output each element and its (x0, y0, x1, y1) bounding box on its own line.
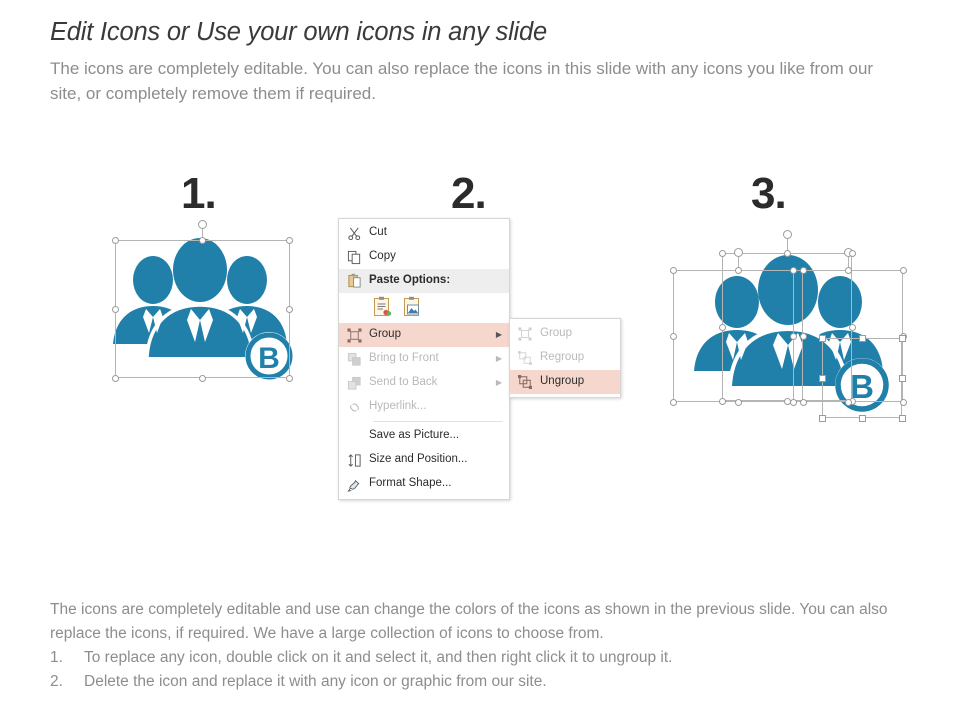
group-submenu[interactable]: Group Regroup Ungroup (509, 318, 621, 398)
step-number-3: 3. (751, 172, 786, 216)
page-title: Edit Icons or Use your own icons in any … (50, 18, 547, 47)
selection-handle-nw[interactable] (670, 267, 677, 274)
footer-paragraph: The icons are completely editable and us… (50, 598, 930, 646)
selection-handle-sw[interactable] (670, 399, 677, 406)
selection-handle-w[interactable] (819, 375, 826, 382)
selection-handle-n[interactable] (859, 335, 866, 342)
selection-handle-se[interactable] (286, 375, 293, 382)
submenu-item-label: Group (540, 328, 616, 340)
context-menu[interactable]: Cut Copy Paste Options: (338, 218, 510, 500)
menu-item-label: Group (369, 329, 493, 341)
menu-item-paste-options: Paste Options: (339, 269, 509, 293)
selection-handle-ne[interactable] (899, 335, 906, 342)
selection-handle-nw[interactable] (790, 267, 797, 274)
selection-handle-ne[interactable] (286, 237, 293, 244)
regroup-icon (510, 346, 540, 370)
selection-handle-e[interactable] (899, 375, 906, 382)
menu-separator (373, 421, 503, 422)
submenu-item-label: Ungroup (540, 376, 616, 388)
menu-item-label: Save as Picture... (369, 430, 505, 442)
selection-handle-w[interactable] (112, 306, 119, 313)
rotation-handle-center[interactable] (783, 230, 792, 239)
selection-handle-sw[interactable] (819, 415, 826, 422)
selection-handle-w[interactable] (670, 333, 677, 340)
chevron-right-icon: ▶ (493, 331, 505, 339)
step-3-icon-stage: B (665, 228, 900, 423)
no-icon (339, 424, 369, 448)
selection-handle-n[interactable] (784, 250, 791, 257)
menu-item-save-as-picture[interactable]: Save as Picture... (339, 424, 509, 448)
selection-handle-nw[interactable] (719, 250, 726, 257)
selection-handle-s[interactable] (735, 399, 742, 406)
format-shape-icon (339, 472, 369, 496)
submenu-item-label: Regroup (540, 352, 616, 364)
rotation-handle[interactable] (198, 220, 207, 229)
menu-item-size-and-position[interactable]: Size and Position... (339, 448, 509, 472)
group-icon (339, 323, 369, 347)
paste-picture-icon[interactable] (403, 296, 423, 320)
selection-handle-ne[interactable] (800, 267, 807, 274)
selection-handle-n[interactable] (735, 267, 742, 274)
menu-item-send-to-back[interactable]: Send to Back ▶ (339, 371, 509, 395)
selection-handle-e[interactable] (849, 324, 856, 331)
rotation-handle-left[interactable] (734, 248, 743, 257)
selection-handle-sw[interactable] (719, 398, 726, 405)
footer-list: 1. To replace any icon, double click on … (50, 646, 930, 694)
menu-item-copy[interactable]: Copy (339, 245, 509, 269)
menu-item-label: Format Shape... (369, 478, 505, 490)
menu-item-cut[interactable]: Cut (339, 221, 509, 245)
list-item: 2. Delete the icon and replace it with a… (50, 670, 930, 694)
selection-handle-e[interactable] (800, 333, 807, 340)
page-subtitle: The icons are completely editable. You c… (50, 56, 880, 106)
selection-handle-s[interactable] (859, 415, 866, 422)
paste-options-row (339, 293, 509, 323)
copy-icon (339, 245, 369, 269)
menu-item-label: Send to Back (369, 377, 493, 389)
size-position-icon (339, 448, 369, 472)
menu-item-bring-to-front[interactable]: Bring to Front ▶ (339, 347, 509, 371)
menu-item-label: Copy (369, 251, 505, 263)
menu-item-label: Bring to Front (369, 353, 493, 365)
footer-block: The icons are completely editable and us… (50, 598, 930, 694)
menu-item-format-shape[interactable]: Format Shape... (339, 472, 509, 496)
selection-handle-se[interactable] (900, 399, 907, 406)
ungroup-icon (510, 370, 540, 394)
menu-item-label: Paste Options: (369, 275, 505, 287)
list-item-text: To replace any icon, double click on it … (84, 646, 672, 670)
selection-handle-ne[interactable] (900, 267, 907, 274)
selection-handle-ne[interactable] (849, 250, 856, 257)
submenu-item-ungroup[interactable]: Ungroup (510, 370, 620, 394)
selection-handle-w[interactable] (790, 333, 797, 340)
submenu-item-regroup[interactable]: Regroup (510, 346, 620, 370)
menu-item-label: Hyperlink... (369, 401, 505, 413)
selection-handle-n[interactable] (845, 267, 852, 274)
selection-handle-e[interactable] (286, 306, 293, 313)
selection-handle-nw[interactable] (819, 335, 826, 342)
group-icon (510, 322, 540, 346)
list-item-text: Delete the icon and replace it with any … (84, 670, 547, 694)
clipboard-icon (339, 269, 369, 293)
menu-item-hyperlink[interactable]: Hyperlink... (339, 395, 509, 419)
shape-selection-frame-badge[interactable] (822, 338, 902, 418)
step-1-icon-stage: B (100, 225, 315, 395)
list-item: 1. To replace any icon, double click on … (50, 646, 930, 670)
list-item-number: 1. (50, 646, 84, 670)
step-number-2: 2. (451, 172, 486, 216)
hyperlink-icon (339, 395, 369, 419)
list-item-number: 2. (50, 670, 84, 694)
paste-keep-text-icon[interactable] (373, 296, 393, 320)
selection-handle-nw[interactable] (112, 237, 119, 244)
menu-item-label: Size and Position... (369, 454, 505, 466)
menu-item-label: Cut (369, 227, 505, 239)
selection-handle-se[interactable] (899, 415, 906, 422)
selection-handle-n[interactable] (199, 237, 206, 244)
selection-handle-s[interactable] (845, 399, 852, 406)
bring-to-front-icon (339, 347, 369, 371)
scissors-icon (339, 221, 369, 245)
chevron-right-icon: ▶ (493, 355, 505, 363)
chevron-right-icon: ▶ (493, 379, 505, 387)
selection-handle-se[interactable] (800, 399, 807, 406)
selection-handle-sw[interactable] (112, 375, 119, 382)
selection-frame[interactable] (115, 240, 290, 378)
selection-handle-s[interactable] (199, 375, 206, 382)
send-to-back-icon (339, 371, 369, 395)
selection-handle-w[interactable] (719, 324, 726, 331)
submenu-item-group[interactable]: Group (510, 322, 620, 346)
selection-handle-sw[interactable] (790, 399, 797, 406)
step-number-1: 1. (181, 172, 216, 216)
menu-item-group[interactable]: Group ▶ (339, 323, 509, 347)
